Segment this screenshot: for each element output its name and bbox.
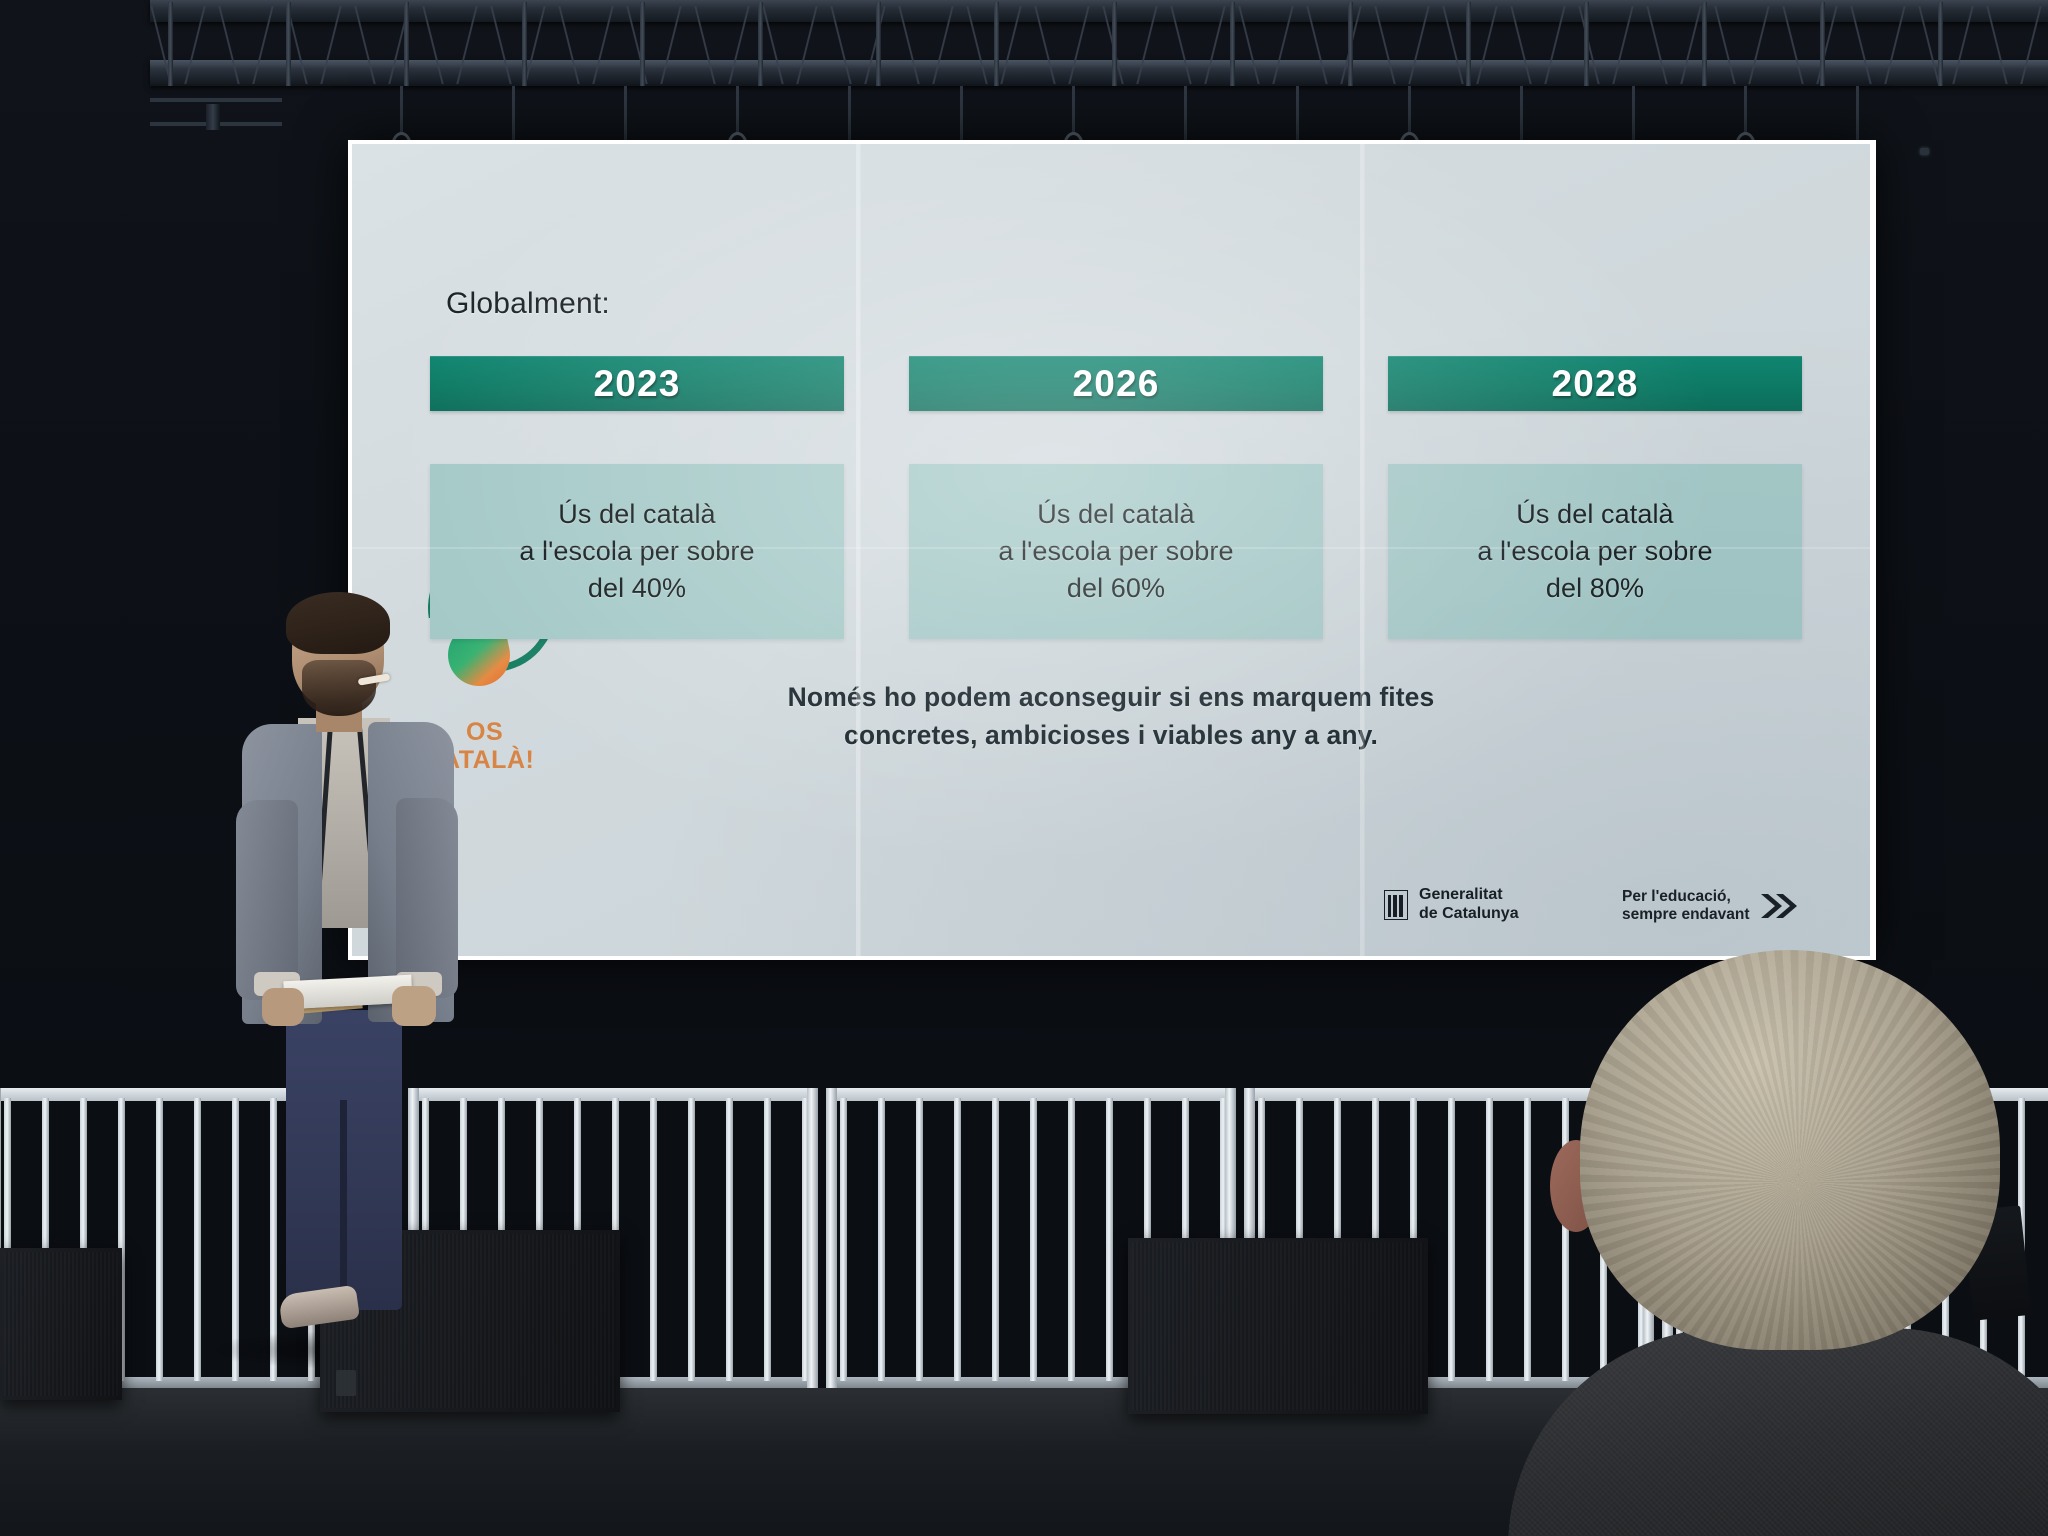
target-line-2: a l'escola per sobre bbox=[519, 536, 754, 566]
presenter-hair bbox=[286, 592, 390, 654]
truss-beam-upper bbox=[150, 0, 2048, 22]
truss-beam-lower bbox=[150, 60, 2048, 86]
year-label: 2028 bbox=[1551, 363, 1638, 405]
generalitat-logo: Generalitat de Catalunya bbox=[1384, 886, 1519, 923]
stage-scene: OS ATALÀ! Globalment: 2023 Ús del català… bbox=[0, 0, 2048, 1536]
conclusion-line-1: Només ho podem aconseguir si ens marquem… bbox=[788, 682, 1435, 712]
audience-member-head bbox=[1528, 940, 2048, 1536]
presenter-arm-right bbox=[396, 798, 458, 998]
generalitat-logo-text: Generalitat de Catalunya bbox=[1419, 886, 1519, 923]
target-box-2026: Ús del català a l'escola per sobre del 6… bbox=[909, 464, 1323, 639]
target-text: Ús del català a l'escola per sobre del 6… bbox=[998, 496, 1233, 607]
tagline-text: Per l'educació, sempre endavant bbox=[1622, 888, 1750, 923]
generalitat-line-1: Generalitat bbox=[1419, 886, 1519, 905]
presenter-arm-left bbox=[236, 800, 298, 1000]
target-box-2028: Ús del català a l'escola per sobre del 8… bbox=[1388, 464, 1802, 639]
target-line-1: Ús del català bbox=[1037, 499, 1194, 529]
stage-monitor-left bbox=[0, 1248, 122, 1400]
year-header-2028: 2028 bbox=[1388, 356, 1802, 411]
monitor-grille bbox=[1132, 1242, 1424, 1410]
double-chevron-right-icon bbox=[1759, 890, 1801, 922]
target-line-3: del 40% bbox=[588, 573, 686, 603]
year-label: 2026 bbox=[1072, 363, 1159, 405]
presentation-slide: OS ATALÀ! Globalment: 2023 Ús del català… bbox=[352, 144, 1870, 956]
slide-title: Globalment: bbox=[446, 287, 610, 321]
target-line-1: Ús del català bbox=[558, 499, 715, 529]
presenter-beard bbox=[302, 660, 376, 716]
presenter bbox=[236, 600, 516, 1400]
presenter-hand-left bbox=[262, 988, 304, 1026]
target-line-3: del 80% bbox=[1546, 573, 1644, 603]
milestone-card-2028: 2028 Ús del català a l'escola per sobre … bbox=[1388, 356, 1802, 639]
target-line-3: del 60% bbox=[1067, 573, 1165, 603]
milestone-card-2023: 2023 Ús del català a l'escola per sobre … bbox=[430, 356, 844, 639]
milestone-card-2026: 2026 Ús del català a l'escola per sobre … bbox=[909, 356, 1323, 639]
monitor-grille bbox=[4, 1252, 118, 1396]
conclusion-line-2: concretes, ambicioses i viables any a an… bbox=[844, 720, 1378, 750]
truss-support-leg bbox=[206, 104, 220, 130]
target-line-2: a l'escola per sobre bbox=[1477, 536, 1712, 566]
tagline-line-1: Per l'educació, bbox=[1622, 888, 1750, 906]
target-text: Ús del català a l'escola per sobre del 8… bbox=[1477, 496, 1712, 607]
presenter-leg-gap bbox=[340, 1100, 347, 1300]
year-header-2023: 2023 bbox=[430, 356, 844, 411]
projection-screen: OS ATALÀ! Globalment: 2023 Ús del català… bbox=[352, 144, 1870, 956]
generalitat-emblem-icon bbox=[1384, 890, 1408, 920]
ceiling-truss-rig bbox=[0, 0, 2048, 130]
audience-shoulders bbox=[1508, 1328, 2048, 1536]
tagline-line-2: sempre endavant bbox=[1622, 906, 1750, 924]
slide-conclusion: Només ho podem aconseguir si ens marquem… bbox=[352, 678, 1870, 754]
campaign-tagline: Per l'educació, sempre endavant bbox=[1622, 888, 1801, 923]
milestone-cards: 2023 Ús del català a l'escola per sobre … bbox=[430, 356, 1802, 639]
generalitat-line-2: de Catalunya bbox=[1419, 905, 1519, 924]
audience-hair bbox=[1580, 950, 2000, 1350]
target-line-1: Ús del català bbox=[1516, 499, 1673, 529]
target-text: Ús del català a l'escola per sobre del 4… bbox=[519, 496, 754, 607]
year-header-2026: 2026 bbox=[909, 356, 1323, 411]
year-label: 2023 bbox=[593, 363, 680, 405]
presenter-hand-right bbox=[392, 986, 436, 1026]
target-line-2: a l'escola per sobre bbox=[998, 536, 1233, 566]
stage-monitor-right bbox=[1128, 1238, 1428, 1414]
